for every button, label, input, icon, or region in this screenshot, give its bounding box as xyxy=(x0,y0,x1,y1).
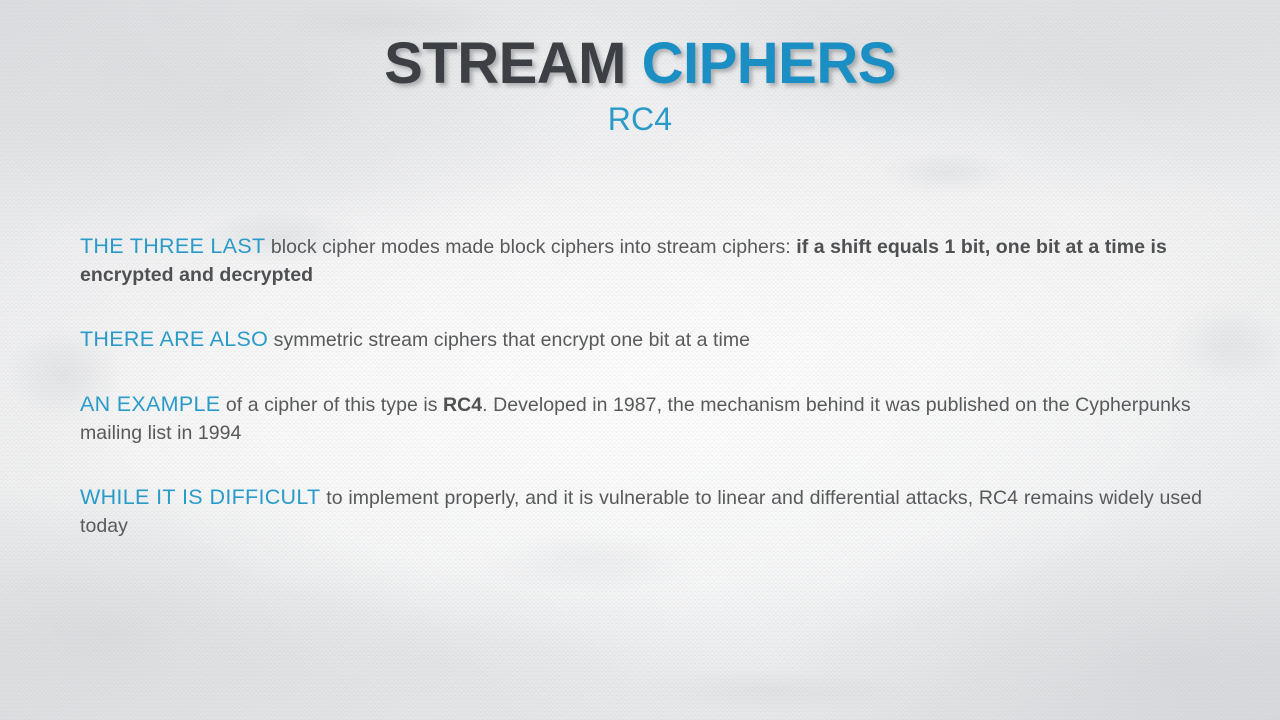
paragraph-1-lead: THE THREE LAST xyxy=(80,234,265,258)
paragraph-4: WHILE IT IS DIFFICULT to implement prope… xyxy=(80,483,1202,540)
paragraph-4-lead: WHILE IT IS DIFFICULT xyxy=(80,485,320,509)
slide-subtitle: RC4 xyxy=(0,102,1280,137)
slide-title-part-stream: STREAM xyxy=(384,31,642,96)
paragraph-1-body: block cipher modes made block ciphers in… xyxy=(265,236,796,258)
slide: STREAM CIPHERS RC4 THE THREE LAST block … xyxy=(0,0,1280,720)
paragraph-2-body: symmetric stream ciphers that encrypt on… xyxy=(268,329,750,351)
paragraph-3-bold-rc4: RC4 xyxy=(443,394,482,416)
paragraph-3: AN EXAMPLE of a cipher of this type is R… xyxy=(80,390,1202,447)
slide-title: STREAM CIPHERS xyxy=(0,34,1280,94)
paragraph-3-body-before: of a cipher of this type is xyxy=(220,394,443,416)
paragraph-2-lead: THERE ARE ALSO xyxy=(80,327,268,351)
paragraph-1: THE THREE LAST block cipher modes made b… xyxy=(80,232,1202,289)
slide-title-part-ciphers: CIPHERS xyxy=(642,31,896,96)
slide-content: STREAM CIPHERS RC4 THE THREE LAST block … xyxy=(0,0,1280,720)
paragraph-2: THERE ARE ALSO symmetric stream ciphers … xyxy=(80,325,1202,354)
paragraph-3-lead: AN EXAMPLE xyxy=(80,392,220,416)
body-block: THE THREE LAST block cipher modes made b… xyxy=(80,232,1202,540)
title-block: STREAM CIPHERS RC4 xyxy=(0,34,1280,138)
